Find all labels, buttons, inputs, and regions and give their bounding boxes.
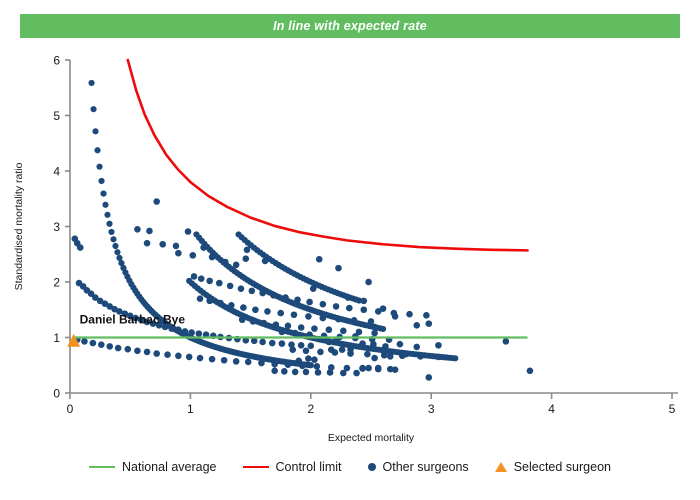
data-point[interactable] xyxy=(435,354,442,361)
data-point[interactable] xyxy=(387,366,394,373)
green-line-icon xyxy=(89,466,115,468)
chart-legend: National averageControl limitOther surge… xyxy=(0,452,700,482)
data-point[interactable] xyxy=(242,255,249,262)
blue-dot-icon xyxy=(368,463,376,471)
data-point[interactable] xyxy=(435,342,442,349)
data-point[interactable] xyxy=(269,340,276,347)
legend-item-other-surgeons[interactable]: Other surgeons xyxy=(368,460,469,474)
data-point[interactable] xyxy=(261,320,268,327)
data-point[interactable] xyxy=(371,355,378,362)
legend-label: National average xyxy=(122,460,217,474)
x-tick-label: 5 xyxy=(669,402,676,416)
data-point[interactable] xyxy=(196,330,203,337)
data-point[interactable] xyxy=(96,164,102,170)
data-point[interactable] xyxy=(106,221,112,227)
y-axis-title: Standardised mortality ratio xyxy=(13,162,25,290)
data-point[interactable] xyxy=(351,317,358,324)
data-point[interactable] xyxy=(291,311,298,318)
data-point[interactable] xyxy=(279,340,286,347)
data-point[interactable] xyxy=(425,374,432,381)
data-point[interactable] xyxy=(310,285,317,292)
legend-label: Control limit xyxy=(276,460,342,474)
data-point[interactable] xyxy=(249,288,256,295)
data-point[interactable] xyxy=(359,365,366,372)
data-point[interactable] xyxy=(353,370,360,377)
data-point[interactable] xyxy=(159,241,166,248)
data-point[interactable] xyxy=(112,243,118,249)
legend-item-national-average[interactable]: National average xyxy=(89,460,217,474)
data-point[interactable] xyxy=(100,190,106,196)
data-point[interactable] xyxy=(77,244,84,251)
data-point[interactable] xyxy=(281,368,288,375)
data-point[interactable] xyxy=(279,329,286,336)
data-point[interactable] xyxy=(240,304,247,311)
data-point[interactable] xyxy=(328,346,335,353)
data-point[interactable] xyxy=(90,340,97,347)
y-tick-label: 2 xyxy=(53,276,60,290)
y-tick-label: 4 xyxy=(53,165,60,179)
red-line-icon xyxy=(243,466,269,468)
data-point[interactable] xyxy=(365,365,372,372)
data-point[interactable] xyxy=(365,279,372,286)
data-point[interactable] xyxy=(320,301,327,308)
data-point[interactable] xyxy=(146,228,153,235)
data-point[interactable] xyxy=(216,280,223,287)
data-point[interactable] xyxy=(238,285,245,292)
data-point[interactable] xyxy=(217,300,224,307)
data-point[interactable] xyxy=(503,338,510,345)
data-point[interactable] xyxy=(185,228,192,235)
data-point[interactable] xyxy=(175,250,182,257)
x-tick-label: 4 xyxy=(548,402,555,416)
data-point[interactable] xyxy=(245,359,252,366)
data-point[interactable] xyxy=(303,369,310,376)
data-point[interactable] xyxy=(175,326,182,333)
data-point[interactable] xyxy=(102,202,108,208)
y-tick-label: 3 xyxy=(53,220,60,234)
data-point[interactable] xyxy=(206,298,213,305)
data-point[interactable] xyxy=(339,346,346,353)
data-point[interactable] xyxy=(92,128,98,134)
data-point[interactable] xyxy=(295,358,302,365)
data-point[interactable] xyxy=(314,363,321,370)
status-banner: In line with expected rate xyxy=(20,14,680,38)
tick-layer: 0123456012345 xyxy=(53,54,675,417)
data-point[interactable] xyxy=(282,294,289,301)
data-point[interactable] xyxy=(452,355,458,361)
data-point[interactable] xyxy=(115,345,122,352)
data-point[interactable] xyxy=(305,355,312,362)
data-point[interactable] xyxy=(303,348,310,355)
data-point[interactable] xyxy=(364,351,371,358)
data-point[interactable] xyxy=(90,106,96,112)
data-point[interactable] xyxy=(397,341,404,348)
data-point[interactable] xyxy=(173,243,180,250)
y-tick-label: 5 xyxy=(53,109,60,123)
status-banner-text: In line with expected rate xyxy=(273,19,427,33)
data-point[interactable] xyxy=(98,341,105,348)
data-point[interactable] xyxy=(110,236,116,242)
data-point[interactable] xyxy=(360,298,367,305)
control-limit-curve xyxy=(128,60,528,250)
data-point[interactable] xyxy=(417,353,424,360)
data-point[interactable] xyxy=(209,356,216,363)
data-point[interactable] xyxy=(153,198,160,205)
data-point[interactable] xyxy=(108,229,114,235)
data-point[interactable] xyxy=(370,341,377,348)
data-point[interactable] xyxy=(221,357,228,364)
data-point[interactable] xyxy=(368,318,375,325)
data-point[interactable] xyxy=(327,369,334,376)
data-point[interactable] xyxy=(164,351,171,358)
data-point[interactable] xyxy=(371,330,378,337)
data-point[interactable] xyxy=(289,346,296,353)
data-point[interactable] xyxy=(222,259,229,266)
data-point[interactable] xyxy=(228,302,235,309)
data-point[interactable] xyxy=(285,323,292,330)
data-point[interactable] xyxy=(198,275,205,282)
legend-item-selected-surgeon[interactable]: Selected surgeon xyxy=(495,460,611,474)
data-point[interactable] xyxy=(292,330,299,337)
data-point[interactable] xyxy=(347,346,354,353)
data-point[interactable] xyxy=(305,313,312,320)
data-point[interactable] xyxy=(387,353,394,360)
data-point[interactable] xyxy=(340,328,347,335)
data-point[interactable] xyxy=(413,322,420,329)
data-point[interactable] xyxy=(206,278,213,285)
data-point[interactable] xyxy=(380,326,386,332)
data-point[interactable] xyxy=(270,292,277,299)
data-point[interactable] xyxy=(186,354,193,361)
legend-label: Selected surgeon xyxy=(514,460,611,474)
data-point[interactable] xyxy=(144,240,151,247)
data-point[interactable] xyxy=(233,261,240,268)
data-point[interactable] xyxy=(98,178,104,184)
orange-triangle-icon xyxy=(495,462,507,472)
data-point[interactable] xyxy=(306,299,313,306)
x-axis-title: Expected mortality xyxy=(328,432,415,444)
data-point[interactable] xyxy=(197,295,204,302)
y-tick-label: 1 xyxy=(53,331,60,345)
data-point[interactable] xyxy=(317,349,324,356)
data-point[interactable] xyxy=(326,339,333,346)
data-point[interactable] xyxy=(298,324,305,331)
data-point[interactable] xyxy=(292,369,299,376)
data-point[interactable] xyxy=(352,333,359,340)
data-point[interactable] xyxy=(252,306,259,313)
data-point[interactable] xyxy=(134,226,141,233)
data-point[interactable] xyxy=(380,305,387,312)
data-point[interactable] xyxy=(392,313,399,320)
funnel-plot-page: In line with expected rate 0123456012345… xyxy=(0,0,700,500)
data-point[interactable] xyxy=(406,311,413,318)
data-point[interactable] xyxy=(335,316,342,323)
data-point[interactable] xyxy=(381,352,388,359)
data-point[interactable] xyxy=(244,247,251,254)
data-point[interactable] xyxy=(262,258,269,265)
data-point[interactable] xyxy=(308,343,315,350)
data-point[interactable] xyxy=(81,338,88,345)
data-point[interactable] xyxy=(311,325,318,332)
data-point[interactable] xyxy=(106,343,113,350)
data-point[interactable] xyxy=(335,265,342,272)
data-points-layer[interactable] xyxy=(72,80,534,381)
data-point[interactable] xyxy=(191,273,198,280)
x-tick-label: 3 xyxy=(428,402,435,416)
data-point[interactable] xyxy=(315,369,322,376)
data-point[interactable] xyxy=(403,351,410,358)
data-point[interactable] xyxy=(382,343,389,350)
data-point[interactable] xyxy=(326,326,333,333)
data-point[interactable] xyxy=(258,360,265,367)
y-tick-label: 6 xyxy=(53,54,60,68)
data-point[interactable] xyxy=(239,316,246,323)
data-point[interactable] xyxy=(425,320,432,327)
data-point[interactable] xyxy=(345,294,352,301)
data-point[interactable] xyxy=(527,368,534,375)
data-point[interactable] xyxy=(271,368,278,375)
chart-area: 0123456012345 Daniel Barbac Bye Expected… xyxy=(0,40,700,450)
data-point[interactable] xyxy=(346,305,353,312)
data-point[interactable] xyxy=(259,339,266,346)
data-point[interactable] xyxy=(311,356,318,363)
data-point[interactable] xyxy=(200,244,207,251)
x-tick-label: 1 xyxy=(187,402,194,416)
data-point[interactable] xyxy=(190,252,197,259)
data-point[interactable] xyxy=(134,348,141,355)
data-point[interactable] xyxy=(285,361,292,368)
legend-item-control-limit[interactable]: Control limit xyxy=(243,460,342,474)
data-point[interactable] xyxy=(294,296,301,303)
data-point[interactable] xyxy=(277,310,284,317)
data-point[interactable] xyxy=(188,329,195,336)
x-tick-label: 0 xyxy=(67,402,74,416)
data-point[interactable] xyxy=(371,324,378,331)
data-point[interactable] xyxy=(197,355,204,362)
data-point[interactable] xyxy=(227,283,234,290)
data-point[interactable] xyxy=(114,249,120,255)
data-point[interactable] xyxy=(144,349,151,356)
data-point[interactable] xyxy=(360,306,367,313)
data-point[interactable] xyxy=(104,212,110,218)
data-point[interactable] xyxy=(413,344,420,351)
data-point[interactable] xyxy=(273,321,280,328)
data-point[interactable] xyxy=(423,312,430,319)
data-point[interactable] xyxy=(316,256,323,263)
data-point[interactable] xyxy=(209,254,216,261)
x-tick-label: 2 xyxy=(307,402,314,416)
data-point[interactable] xyxy=(233,358,240,365)
data-point[interactable] xyxy=(250,318,257,325)
data-point[interactable] xyxy=(264,308,271,315)
data-point[interactable] xyxy=(153,350,160,357)
data-point[interactable] xyxy=(271,361,278,368)
data-point[interactable] xyxy=(320,315,327,322)
data-point[interactable] xyxy=(359,340,366,347)
data-point[interactable] xyxy=(375,365,382,372)
data-point[interactable] xyxy=(333,303,340,310)
data-point[interactable] xyxy=(88,80,94,86)
data-point[interactable] xyxy=(182,328,189,335)
data-point[interactable] xyxy=(340,370,347,377)
legend-label: Other surgeons xyxy=(383,460,469,474)
data-point[interactable] xyxy=(124,346,131,353)
selected-surgeon-label: Daniel Barbac Bye xyxy=(80,312,186,326)
data-point[interactable] xyxy=(259,290,266,297)
data-point[interactable] xyxy=(298,342,305,349)
funnel-plot-svg: 0123456012345 Daniel Barbac Bye Expected… xyxy=(0,40,700,450)
data-point[interactable] xyxy=(94,147,100,153)
data-point[interactable] xyxy=(175,353,182,360)
data-point[interactable] xyxy=(308,362,314,368)
y-tick-label: 0 xyxy=(53,387,60,401)
data-point[interactable] xyxy=(168,325,175,332)
